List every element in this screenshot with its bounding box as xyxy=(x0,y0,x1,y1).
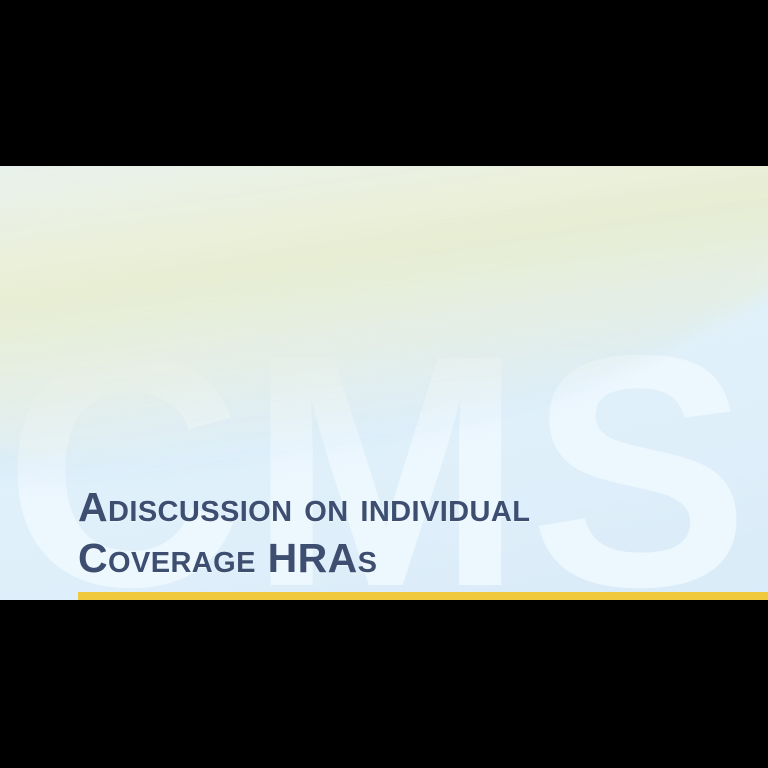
letterbox-bar-top xyxy=(0,0,768,166)
slide-title: ADiscussion on Individual Coverage HRAs xyxy=(78,482,738,584)
video-frame: CMS ADiscussion on Individual Coverage H… xyxy=(0,0,768,768)
title-slide: CMS ADiscussion on Individual Coverage H… xyxy=(0,166,768,600)
gold-rule-thick xyxy=(78,592,768,600)
title-line2-rest: overage xyxy=(108,535,268,581)
letterbox-bar-bottom xyxy=(0,600,768,768)
gold-rule-group xyxy=(78,592,768,600)
title-line2-lead: C xyxy=(78,535,108,581)
title-line1-rest: Discussion on Individual xyxy=(108,484,530,530)
swoosh-arc-white-icon xyxy=(0,166,768,529)
title-line1-lead: A xyxy=(78,484,108,530)
title-block: ADiscussion on Individual Coverage HRAs xyxy=(78,482,738,584)
swoosh-arc-gold-icon xyxy=(0,166,768,528)
title-line2-tail: s xyxy=(358,535,378,581)
title-line2-acronym: HRA xyxy=(268,535,358,581)
